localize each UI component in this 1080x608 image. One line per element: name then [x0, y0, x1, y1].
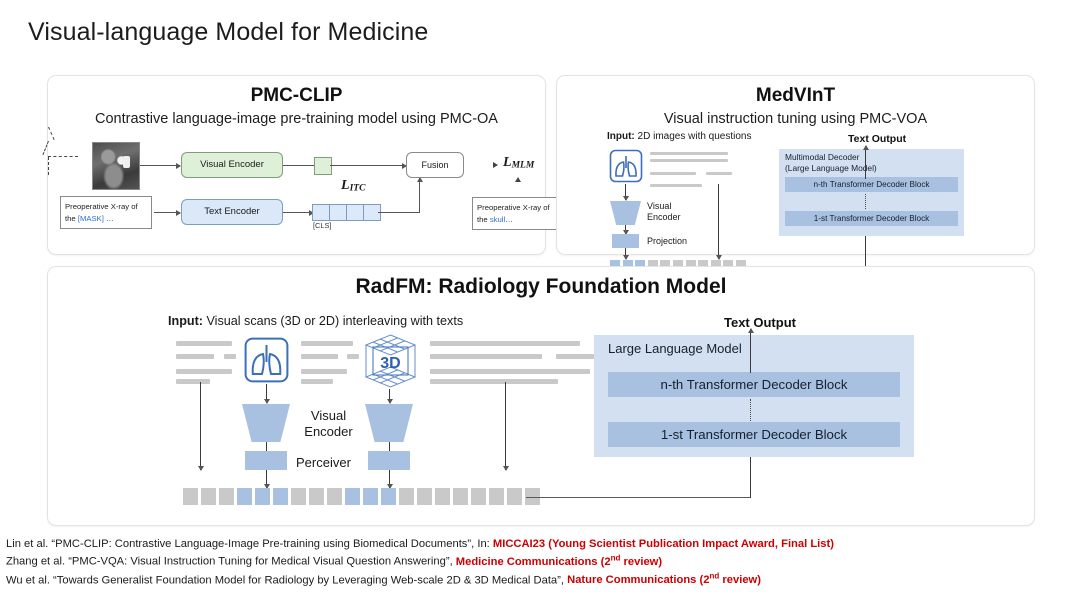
pmc-clip-subtitle: Contrastive language-image pre-training … [48, 111, 545, 127]
reference-2-highlight: Medicine Communications (2nd review) [456, 556, 662, 568]
visual-encoder-box: Visual Encoder [181, 152, 283, 178]
r3-line-4 [430, 379, 558, 384]
r1-line-4 [176, 379, 210, 384]
radfm-token-4 [255, 488, 270, 505]
q-line-3b [706, 172, 732, 175]
medvint-decoder-block-1st: 1-st Transformer Decoder Block [785, 211, 958, 226]
medvint-block-nth-label: n-th Transformer Decoder Block [813, 180, 929, 189]
mlm-arrowhead-up [515, 177, 521, 182]
cls-token-sequence [313, 204, 381, 221]
reference-3-hl-post: review) [719, 574, 761, 586]
radfm-visual-encoder-right [365, 404, 413, 442]
arrow-text-to-fusion-v [419, 178, 420, 213]
3d-volume-icon: 3D [363, 333, 418, 394]
cls-token-2 [346, 204, 364, 221]
decoder-label-line2: (Large Language Model) [785, 163, 877, 173]
radfm-token-0 [183, 488, 198, 505]
line-visual-embed [283, 165, 316, 166]
radfm-token-6 [291, 488, 306, 505]
r2-line-2b [347, 354, 359, 359]
radfm-token-9 [345, 488, 360, 505]
panel-radfm: RadFM: Radiology Foundation Model Input:… [47, 266, 1035, 526]
input-text-line2a: the [65, 214, 78, 223]
radfm-text-block-1 [176, 341, 236, 384]
loss-mlm-symbol: L [503, 155, 512, 170]
radfm-arrow-lung-to-encoder [266, 384, 267, 403]
radfm-arrow-cube-to-encoder [389, 389, 390, 403]
radfm-block-nth-label: n-th Transformer Decoder Block [661, 377, 848, 392]
radfm-token-16 [471, 488, 486, 505]
cls-token-0 [312, 204, 330, 221]
arrow-text-to-text-encoder [154, 212, 180, 213]
reference-2-sup: nd [611, 553, 621, 562]
radfm-tokens-to-llm-line [526, 497, 751, 498]
r3-line-2b [556, 354, 594, 359]
radfm-token-7 [309, 488, 324, 505]
radfm-title: RadFM: Radiology Foundation Model [48, 275, 1034, 299]
radfm-token-3 [237, 488, 252, 505]
input-text-box: Preoperative X-ray of the [MASK] … [60, 196, 152, 229]
text-encoder-box: Text Encoder [181, 199, 283, 225]
radfm-ve-line2: Encoder [304, 424, 352, 439]
radfm-token-2 [219, 488, 234, 505]
radfm-llm-input-vline [750, 456, 751, 498]
reference-1-highlight: MICCAI23 (Young Scientist Publication Im… [493, 538, 834, 550]
medvint-projection-box [612, 234, 639, 248]
reference-2: Zhang et al. “PMC-VQA: Visual Instructio… [6, 552, 1074, 570]
decoder-label-line1: Multimodal Decoder [785, 152, 859, 162]
arrow-text-to-tokens [718, 184, 719, 259]
ve-line2: Encoder [647, 212, 681, 222]
radfm-token-17 [489, 488, 504, 505]
arrow-image-to-visual-encoder [140, 165, 180, 166]
radfm-line-enc-to-perc-left [266, 442, 267, 451]
reference-2-hl-post: review) [620, 556, 662, 568]
radfm-token-11 [381, 488, 396, 505]
arrow-text-embed [283, 212, 313, 213]
radfm-lung-scan-icon [244, 337, 289, 388]
radfm-token-5 [273, 488, 288, 505]
xray-thumbnail [92, 142, 140, 190]
reference-2-plain: Zhang et al. “PMC-VQA: Visual Instructio… [6, 556, 456, 568]
arrow-image-to-encoder [625, 184, 626, 200]
loss-mlm-label: LMLM [503, 155, 534, 171]
output-text-line2a: the [477, 215, 490, 224]
radfm-input-desc: Visual scans (3D or 2D) interleaving wit… [203, 314, 463, 328]
cls-token-1 [329, 204, 347, 221]
medvint-visual-encoder-trapezoid [610, 201, 641, 225]
radfm-decoder-dots [750, 399, 752, 421]
radfm-llm-label: Large Language Model [608, 341, 742, 356]
radfm-token-14 [435, 488, 450, 505]
radfm-block-1st-label: 1-st Transformer Decoder Block [661, 427, 847, 442]
panel-pmc-clip: PMC-CLIP Contrastive language-image pre-… [47, 75, 546, 255]
radfm-decoder-block-1st: 1-st Transformer Decoder Block [608, 422, 900, 447]
ve-line1: Visual [647, 201, 671, 211]
medvint-visual-encoder-label: Visual Encoder [647, 201, 681, 222]
radfm-visual-encoder-label: Visual Encoder [301, 408, 356, 441]
reference-3-sup: nd [709, 572, 719, 581]
medvint-input-label: Input: [607, 131, 635, 142]
reference-3-highlight: Nature Communications (2nd review) [567, 574, 761, 586]
mlm-dash-h [48, 156, 78, 157]
input-text-line2b: … [104, 214, 114, 223]
loss-itc-symbol: L [341, 178, 350, 193]
radfm-token-row [183, 488, 540, 505]
skull-token: skull [490, 215, 505, 224]
loss-itc-subscript: ITC [350, 184, 366, 194]
r3-line-2a [430, 354, 542, 359]
radfm-token-10 [363, 488, 378, 505]
r2-line-3 [301, 369, 347, 374]
radfm-line-enc-to-perc-right [389, 442, 390, 451]
arrow-projection-to-tokens [625, 248, 626, 259]
output-text-line1: Preoperative X-ray of [477, 203, 550, 212]
medvint-block-1st-label: 1-st Transformer Decoder Block [814, 214, 930, 223]
input-text-line1: Preoperative X-ray of [65, 202, 138, 211]
radfm-token-18 [507, 488, 522, 505]
radfm-text-output-arrow [750, 329, 751, 373]
text-encoder-label: Text Encoder [204, 207, 259, 218]
medvint-decoder-block-nth: n-th Transformer Decoder Block [785, 177, 958, 192]
r1-line-3 [176, 369, 232, 374]
q-line-4 [650, 184, 702, 187]
pmc-clip-title: PMC-CLIP [48, 85, 545, 107]
lung-scan-icon [609, 149, 643, 188]
loss-mlm-subscript: MLM [512, 161, 535, 171]
radfm-input-label: Input: [168, 314, 203, 328]
medvint-question-lines [650, 152, 732, 187]
radfm-arrow-perc-to-tokens-right [389, 470, 390, 488]
q-line-2 [650, 159, 728, 162]
medvint-input-caption: Input: 2D images with questions [607, 131, 752, 142]
r3-line-1 [430, 341, 580, 346]
arrow-image-to-fusion [330, 165, 406, 166]
loss-itc-label: LITC [341, 178, 365, 194]
q-line-3a [650, 172, 696, 175]
panel-medvint: MedVInT Visual instruction tuning using … [556, 75, 1035, 255]
radfm-arrow-text3 [505, 382, 506, 470]
medvint-text-output-arrow [865, 146, 866, 179]
r2-line-4 [301, 379, 333, 384]
radfm-input-caption: Input: Visual scans (3D or 2D) interleav… [168, 314, 463, 328]
radfm-visual-encoder-left [242, 404, 290, 442]
mlm-arrowhead [493, 162, 498, 168]
cls-caption: [CLS] [313, 221, 331, 230]
reference-1-plain: Lin et al. “PMC-CLIP: Contrastive Langua… [6, 538, 493, 550]
medvint-subtitle: Visual instruction tuning using PMC-VOA [557, 111, 1034, 127]
itc-dash-top [48, 127, 55, 140]
r2-line-2a [301, 354, 338, 359]
mlm-dash-v [48, 157, 49, 175]
fusion-label: Fusion [421, 160, 448, 170]
radfm-token-8 [327, 488, 342, 505]
visual-encoder-label: Visual Encoder [200, 160, 264, 171]
radfm-arrow-perc-to-tokens-left [266, 470, 267, 488]
radfm-ve-line1: Visual [311, 408, 346, 423]
radfm-token-1 [201, 488, 216, 505]
radfm-arrow-text1 [200, 382, 201, 470]
cube-3d-text: 3D [380, 355, 400, 372]
radfm-token-15 [453, 488, 468, 505]
radfm-perceiver-label: Perceiver [296, 455, 351, 470]
output-text-line2b: … [505, 215, 513, 224]
medvint-decoder-label: Multimodal Decoder (Large Language Model… [785, 152, 877, 174]
r1-line-2b [224, 354, 236, 359]
reference-1: Lin et al. “PMC-CLIP: Contrastive Langua… [6, 536, 1074, 552]
fusion-box: Fusion [406, 152, 464, 178]
itc-dash-bottom [42, 141, 49, 155]
radfm-text-block-3 [430, 341, 594, 384]
radfm-decoder-block-nth: n-th Transformer Decoder Block [608, 372, 900, 397]
radfm-perceiver-left [245, 451, 287, 470]
reference-2-hl-pre: Medicine Communications (2 [456, 556, 611, 568]
reference-3-plain: Wu et al. “Towards Generalist Foundation… [6, 574, 567, 586]
r2-line-1 [301, 341, 353, 346]
arrow-encoder-to-projection [625, 225, 626, 234]
radfm-perceiver-right [368, 451, 410, 470]
medvint-decoder-dots [865, 194, 867, 209]
radfm-token-12 [399, 488, 414, 505]
radfm-text-output-label: Text Output [724, 315, 796, 330]
reference-3: Wu et al. “Towards Generalist Foundation… [6, 571, 1074, 589]
radfm-text-block-2 [301, 341, 359, 384]
medvint-title: MedVInT [557, 85, 1034, 107]
medvint-input-desc: 2D images with questions [635, 131, 752, 142]
reference-3-hl-pre: Nature Communications (2 [567, 574, 709, 586]
r1-line-1 [176, 341, 232, 346]
output-text-box: Preoperative X-ray of the skull… [472, 197, 564, 230]
page-title: Visual-language Model for Medicine [28, 18, 428, 47]
r3-line-3 [430, 369, 590, 374]
line-text-to-fusion-h [378, 212, 420, 213]
medvint-decoder-input-vline [865, 236, 866, 267]
medvint-projection-label: Projection [647, 236, 687, 246]
references-block: Lin et al. “PMC-CLIP: Contrastive Langua… [6, 536, 1074, 589]
q-line-1 [650, 152, 728, 155]
radfm-token-13 [417, 488, 432, 505]
mask-token: [MASK] [78, 214, 104, 223]
slide-root: Visual-language Model for Medicine PMC-C… [0, 0, 1080, 608]
medvint-text-output-label: Text Output [848, 133, 906, 145]
r1-line-2a [176, 354, 214, 359]
